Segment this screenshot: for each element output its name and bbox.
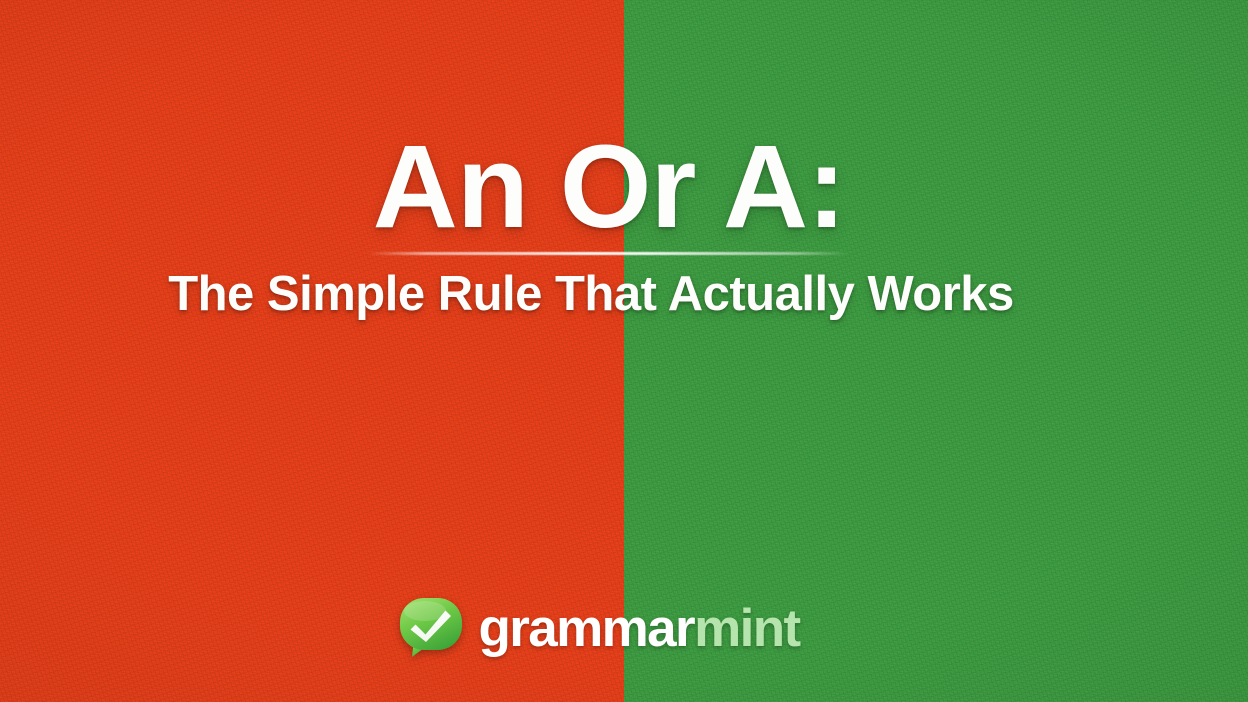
slide-content: An Or A: The Simple Rule That Actually W… [0, 0, 1248, 702]
title-slide: An Or A: The Simple Rule That Actually W… [0, 0, 1248, 702]
page-title: An Or A: [0, 128, 1218, 246]
brand-wordmark: grammarmint [478, 602, 799, 655]
brand-logo: grammarmint [0, 588, 1248, 668]
brand-wordmark-secondary: mint [694, 599, 799, 658]
title-divider-rule [368, 252, 850, 255]
page-subtitle: The Simple Rule That Actually Works [0, 268, 1182, 322]
speech-bubble-checkmark-icon [398, 595, 464, 661]
brand-wordmark-primary: grammar [478, 599, 694, 658]
